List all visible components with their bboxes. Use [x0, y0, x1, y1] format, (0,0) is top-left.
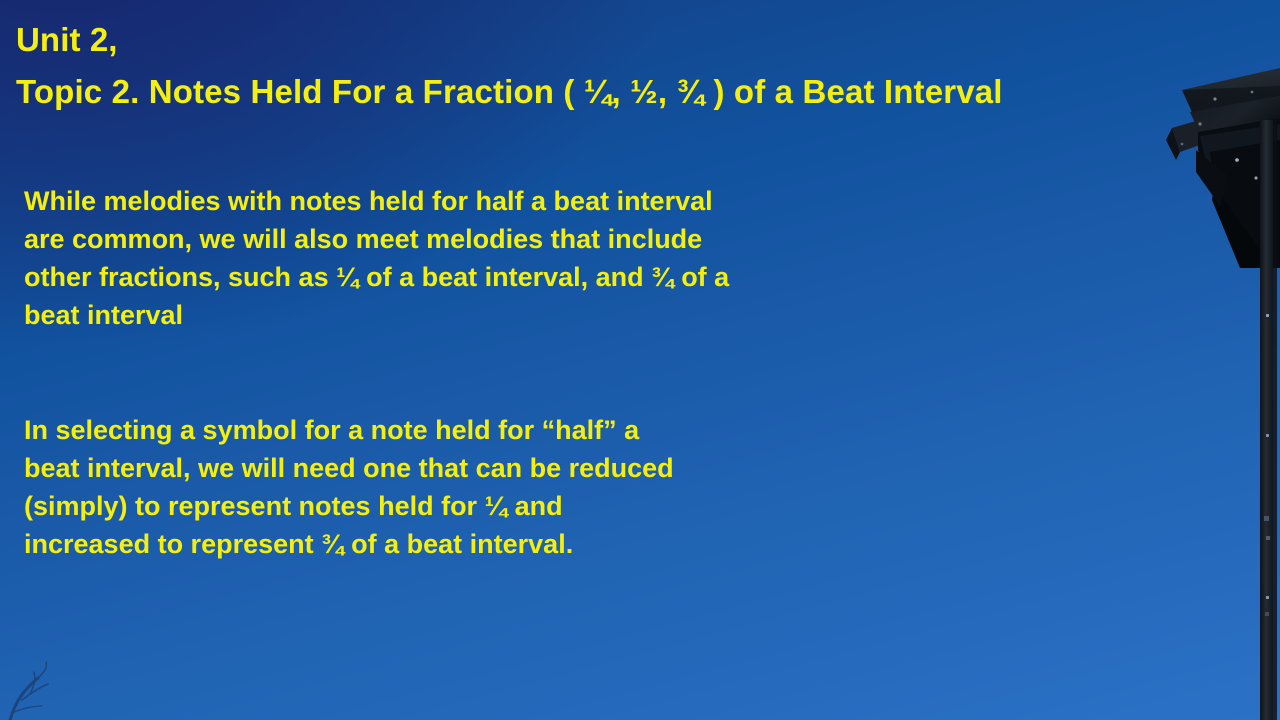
- paragraph-1-text: While melodies with notes held for half …: [24, 182, 904, 334]
- paragraph-2-line-3: (simply) to represent notes held for ¼ a…: [24, 487, 904, 525]
- title-line-2: Topic 2. Notes Held For a Fraction ( ¼, …: [16, 66, 1196, 118]
- body-paragraph-2: In selecting a symbol for a note held fo…: [24, 411, 904, 563]
- slide-title: Unit 2, Topic 2. Notes Held For a Fracti…: [16, 14, 1196, 118]
- vertical-post-silhouette: [1260, 120, 1277, 720]
- paragraph-1-line-3: other fractions, such as ¼ of a beat int…: [24, 258, 904, 296]
- paragraph-2-text: In selecting a symbol for a note held fo…: [24, 411, 904, 563]
- paragraph-2-line-1: In selecting a symbol for a note held fo…: [24, 411, 904, 449]
- body-paragraph-1: While melodies with notes held for half …: [24, 182, 904, 334]
- twig-silhouette: [10, 662, 48, 720]
- paragraph-1-line-4: beat interval: [24, 296, 904, 334]
- paragraph-1-line-2: are common, we will also meet melodies t…: [24, 220, 904, 258]
- paragraph-2-line-4: increased to represent ¾ of a beat inter…: [24, 525, 904, 563]
- title-line-1: Unit 2,: [16, 14, 1196, 66]
- presentation-slide: Unit 2, Topic 2. Notes Held For a Fracti…: [0, 0, 1280, 720]
- paragraph-2-line-2: beat interval, we will need one that can…: [24, 449, 904, 487]
- paragraph-1-line-1: While melodies with notes held for half …: [24, 182, 904, 220]
